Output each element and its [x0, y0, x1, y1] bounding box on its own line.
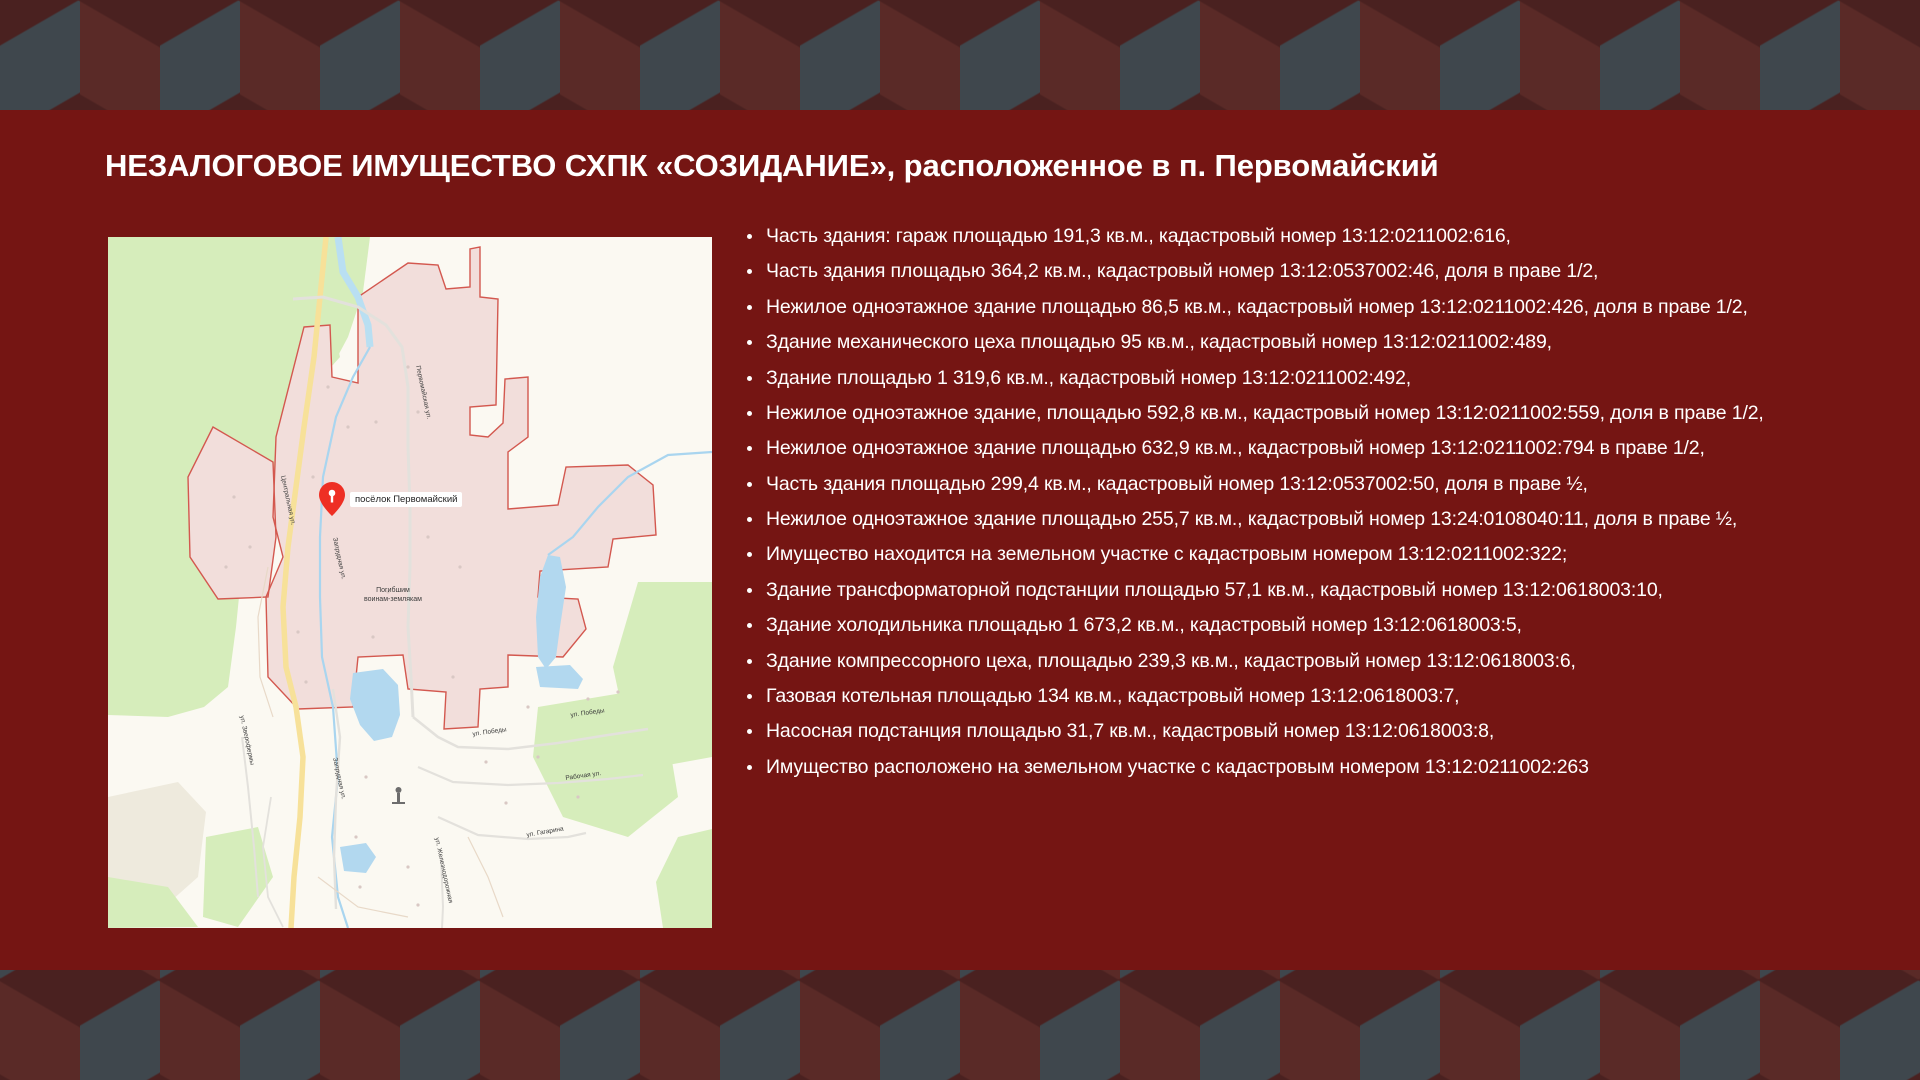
memorial-label-line1: Погибшим — [333, 587, 453, 596]
map-location-pin-icon[interactable] — [319, 482, 345, 516]
location-map[interactable]: Первомайская ул. Центральная ул. Запрудн… — [108, 237, 712, 928]
list-item: Нежилое одноэтажное здание площадью 632,… — [742, 435, 1877, 463]
list-item: Здание трансформаторной подстанции площа… — [742, 577, 1877, 605]
page-title-rest: расположенное в п. Первомайский — [895, 148, 1439, 183]
property-list: Часть здания: гараж площадью 191,3 кв.м.… — [742, 223, 1877, 789]
memorial-label: Погибшим воинам-землякам — [333, 587, 453, 605]
list-item: Здание площадью 1 319,6 кв.м., кадастров… — [742, 365, 1877, 393]
list-item: Имущество расположено на земельном участ… — [742, 754, 1877, 782]
list-item: Насосная подстанция площадью 31,7 кв.м.,… — [742, 718, 1877, 746]
list-item: Здание холодильника площадью 1 673,2 кв.… — [742, 612, 1877, 640]
page-title-caps: НЕЗАЛОГОВОЕ ИМУЩЕСТВО СХПК «СОЗИДАНИЕ», — [105, 148, 895, 183]
list-item: Часть здания площадью 299,4 кв.м., кадас… — [742, 471, 1877, 499]
memorial-label-line2: воинам-землякам — [333, 596, 453, 605]
content-panel: НЕЗАЛОГОВОЕ ИМУЩЕСТВО СХПК «СОЗИДАНИЕ», … — [0, 110, 1920, 970]
list-item: Часть здания площадью 364,2 кв.м., кадас… — [742, 258, 1877, 286]
list-item: Имущество находится на земельном участке… — [742, 541, 1877, 569]
list-item: Газовая котельная площадью 134 кв.м., ка… — [742, 683, 1877, 711]
list-item: Часть здания: гараж площадью 191,3 кв.м.… — [742, 223, 1877, 251]
list-item: Здание механического цеха площадью 95 кв… — [742, 329, 1877, 357]
page-title: НЕЗАЛОГОВОЕ ИМУЩЕСТВО СХПК «СОЗИДАНИЕ», … — [105, 147, 1865, 184]
map-place-label: посёлок Первомайский — [350, 492, 462, 507]
list-item: Здание компрессорного цеха, площадью 239… — [742, 648, 1877, 676]
list-item: Нежилое одноэтажное здание площадью 255,… — [742, 506, 1877, 534]
list-item: Нежилое одноэтажное здание, площадью 592… — [742, 400, 1877, 428]
list-item: Нежилое одноэтажное здание площадью 86,5… — [742, 294, 1877, 322]
map-canvas — [108, 237, 712, 928]
